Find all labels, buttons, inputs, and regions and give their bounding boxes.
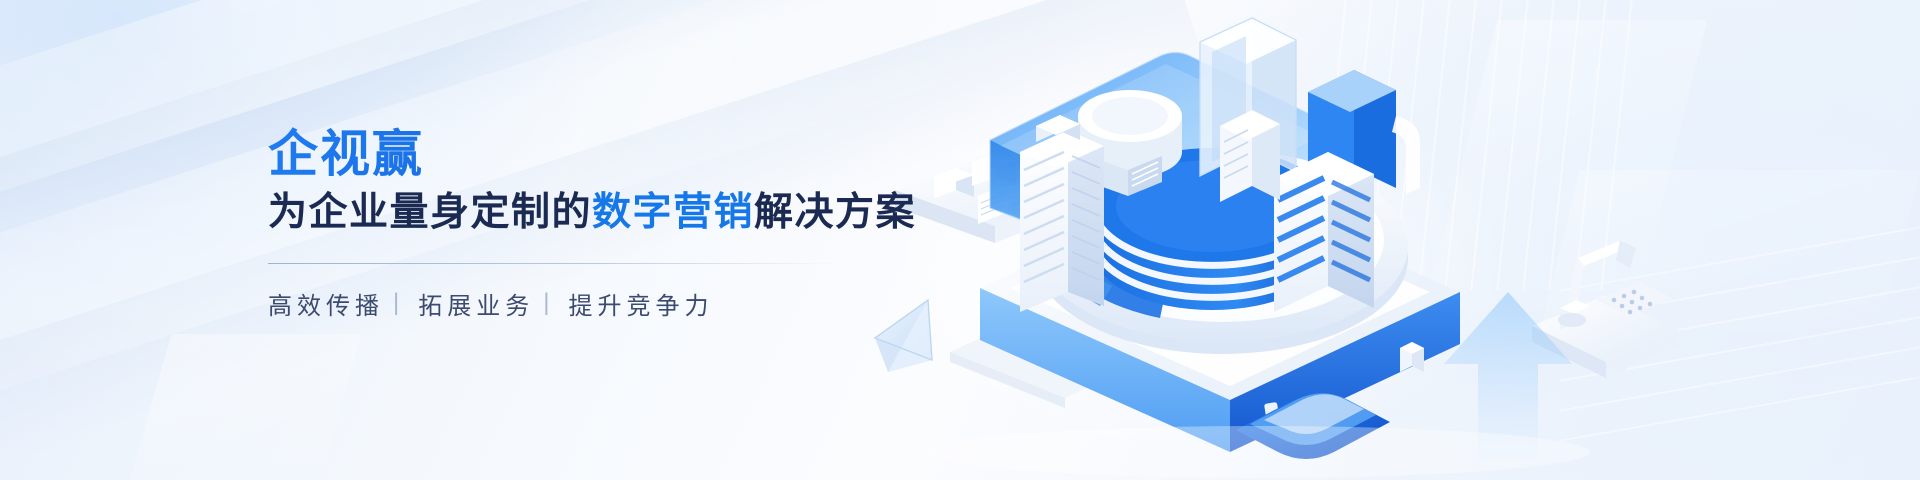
hero-text-block: 企视赢 为企业量身定制的数字营销解决方案 高效传播 | 拓展业务 | 提升竞争力 xyxy=(268,126,908,321)
headline-highlight: 数字营销 xyxy=(592,191,754,234)
bg-panel-left xyxy=(128,334,361,480)
page-title: 为企业量身定制的数字营销解决方案 xyxy=(268,190,908,237)
tagline-separator-1: | xyxy=(393,289,404,317)
floor-sheen xyxy=(930,426,1590,478)
hero-illustration xyxy=(860,0,1920,480)
tagline-separator-2: | xyxy=(543,289,554,317)
hero-banner: 企视赢 为企业量身定制的数字营销解决方案 高效传播 | 拓展业务 | 提升竞争力 xyxy=(0,0,1920,480)
tagline: 高效传播 | 拓展业务 | 提升竞争力 xyxy=(268,286,908,321)
headline-part-after: 解决方案 xyxy=(754,191,916,234)
divider-rule xyxy=(268,263,838,264)
headline-part-before: 为企业量身定制的 xyxy=(268,191,592,234)
tagline-item-1: 高效传播 xyxy=(268,286,384,321)
tagline-item-3: 提升竞争力 xyxy=(568,286,713,321)
brand-title: 企视赢 xyxy=(268,126,908,182)
tagline-item-2: 拓展业务 xyxy=(418,286,534,321)
